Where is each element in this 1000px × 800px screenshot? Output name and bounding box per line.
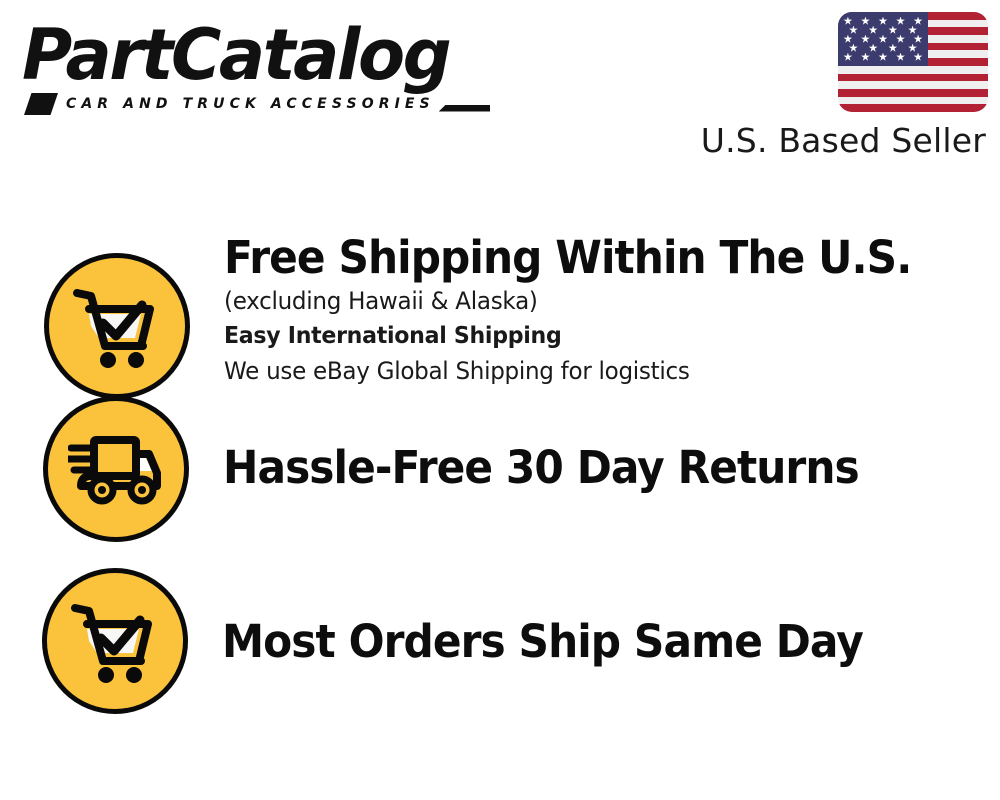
logo-tagline-row: CAR AND TRUCK ACCESSORIES [24, 92, 490, 116]
flag-star-icon [843, 53, 852, 62]
flag-star-icon [908, 26, 917, 35]
feature-heading: Hassle-Free 30 Day Returns [223, 442, 953, 494]
logo-left-slash-icon [24, 93, 58, 115]
us-based-seller-label: U.S. Based Seller [701, 122, 986, 160]
us-based-seller-badge: U.S. Based Seller [726, 12, 988, 160]
feature-heading: Free Shipping Within The U.S. [224, 232, 953, 284]
logo-tagline: CAR AND TRUCK ACCESSORIES [66, 96, 435, 112]
flag-star-icon [843, 35, 852, 44]
flag-stripe [838, 89, 988, 97]
flag-star-row [843, 26, 922, 35]
flag-star-icon [849, 44, 858, 53]
logo-wordmark: PartCatalog [22, 18, 483, 92]
banner-header: PartCatalog CAR AND TRUCK ACCESSORIES [0, 0, 1000, 180]
flag-stripe [838, 81, 988, 89]
flag-star-icon [861, 35, 870, 44]
flag-star-icon [861, 17, 870, 26]
flag-star-icon [908, 44, 917, 53]
feature-text-block: Most Orders Ship Same Day [188, 568, 1000, 668]
partcatalog-logo: PartCatalog CAR AND TRUCK ACCESSORIES [22, 18, 492, 118]
flag-star-icon [878, 53, 887, 62]
delivery-truck-icon [43, 396, 189, 542]
us-flag-icon [838, 12, 988, 112]
flag-stripe [838, 74, 988, 82]
flag-star-row [843, 17, 922, 26]
flag-stripe [838, 97, 988, 105]
flag-star-field [838, 12, 928, 66]
feature-subtext-strong: Easy International Shipping [224, 318, 969, 354]
flag-star-icon [878, 35, 887, 44]
flag-star-icon [869, 44, 878, 53]
feature-item: Free Shipping Within The U.S. (excluding… [0, 208, 1000, 396]
flag-star-icon [914, 53, 923, 62]
flag-star-icon [869, 26, 878, 35]
feature-item: Hassle-Free 30 Day Returns [0, 396, 1000, 568]
flag-canton [838, 12, 928, 66]
shopping-cart-check-icon [44, 253, 190, 399]
logo-right-rule-icon [439, 105, 490, 112]
flag-star-icon [861, 53, 870, 62]
seller-banner: PartCatalog CAR AND TRUCK ACCESSORIES [0, 0, 1000, 800]
flag-star-icon [896, 17, 905, 26]
flag-star-icon [888, 26, 897, 35]
flag-star-icon [878, 17, 887, 26]
flag-star-icon [896, 53, 905, 62]
flag-star-icon [914, 17, 923, 26]
flag-stripe [838, 66, 988, 74]
feature-text-block: Free Shipping Within The U.S. (excluding… [190, 208, 1000, 388]
flag-star-row [843, 44, 922, 53]
feature-subtext: (excluding Hawaii & Alaska) [224, 284, 969, 318]
flag-star-row [843, 35, 922, 44]
feature-item: Most Orders Ship Same Day [0, 568, 1000, 728]
flag-star-row [843, 53, 922, 62]
flag-star-icon [843, 17, 852, 26]
shopping-cart-check-icon [42, 568, 188, 714]
feature-text-block: Hassle-Free 30 Day Returns [189, 396, 1000, 494]
feature-heading: Most Orders Ship Same Day [222, 616, 953, 668]
flag-star-icon [888, 44, 897, 53]
flag-stripe [838, 104, 988, 112]
flag-star-icon [849, 26, 858, 35]
flag-star-icon [896, 35, 905, 44]
flag-star-icon [914, 35, 923, 44]
feature-list: Free Shipping Within The U.S. (excluding… [0, 208, 1000, 728]
feature-subtext-detail: We use eBay Global Shipping for logistic… [224, 354, 969, 388]
